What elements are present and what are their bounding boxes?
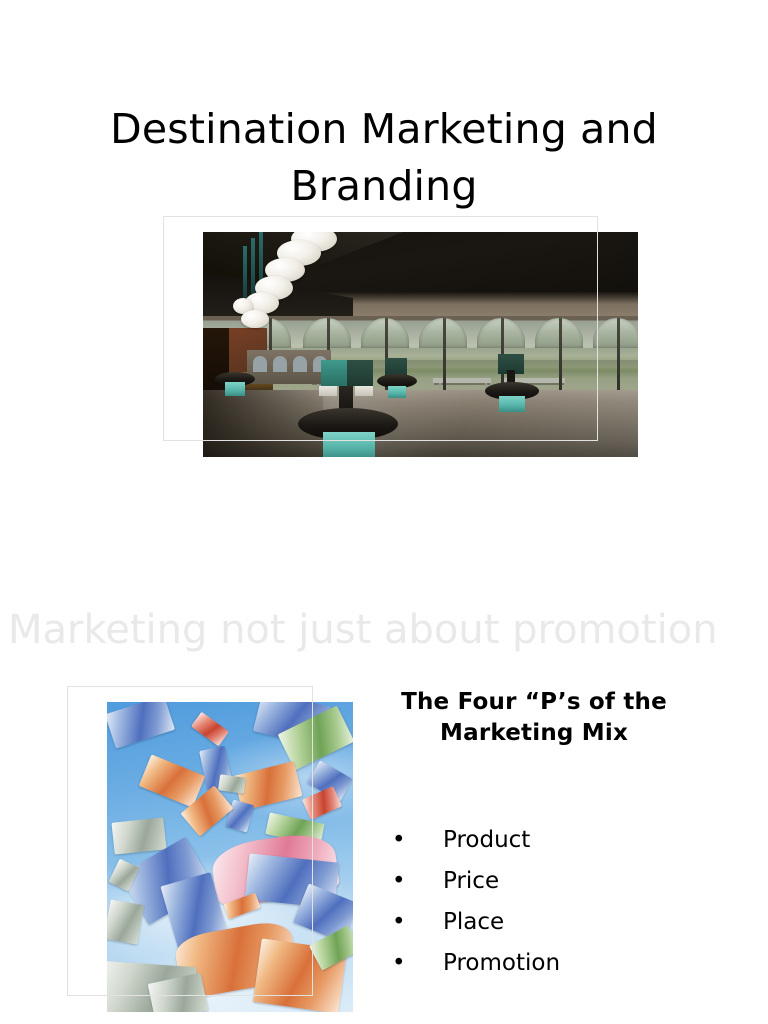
window-mullion [617,318,620,394]
interior-arcade-arch [253,356,267,372]
exhibit-table-base [499,396,525,412]
bullet-icon: • [392,824,406,856]
bullet-icon: • [392,865,406,897]
banknote [107,702,175,749]
slide-destination-marketing-and-branding: Destination Marketing and Branding [0,0,768,512]
exhibit-table-base [388,386,406,398]
window-mullion [443,318,446,394]
list-item: • Place [392,906,722,947]
exterior-bench [433,378,491,383]
list-item-label: Promotion [443,947,560,979]
exterior-bench-leg [439,383,441,389]
exhibit-panel [321,360,347,386]
exhibit-table-base [323,432,375,457]
hanging-lamp [241,310,269,328]
exhibit-panel [347,360,373,386]
marketing-mix-list: • Product • Price • Place • Promotion [392,824,722,988]
faded-slide-heading: Marketing not just about promotion [8,604,708,656]
list-item: • Price [392,865,722,906]
list-item-label: Price [443,865,499,897]
interior-hall-photo [203,232,638,457]
bullet-icon: • [392,906,406,938]
lamp-rod [243,246,247,298]
page-title: Destination Marketing and Branding [70,101,698,215]
interior-arcade-arch [293,356,307,372]
four-ps-heading: The Four “P’s of the Marketing Mix [376,687,692,749]
falling-euro-banknotes-photo [107,702,353,1012]
exhibit-label [355,386,373,396]
window-mullion [559,318,562,394]
banknote [111,817,166,854]
exhibit-label [319,386,337,396]
list-item: • Promotion [392,947,722,988]
exhibit-table-base [225,382,245,396]
banknote [218,774,246,793]
slide-four-ps-of-marketing-mix: Marketing not just about promotion The F… [0,512,768,1024]
list-item-label: Product [443,824,530,856]
list-item-label: Place [443,906,504,938]
interior-arcade-arch [273,356,287,372]
list-item: • Product [392,824,722,865]
bullet-icon: • [392,947,406,979]
